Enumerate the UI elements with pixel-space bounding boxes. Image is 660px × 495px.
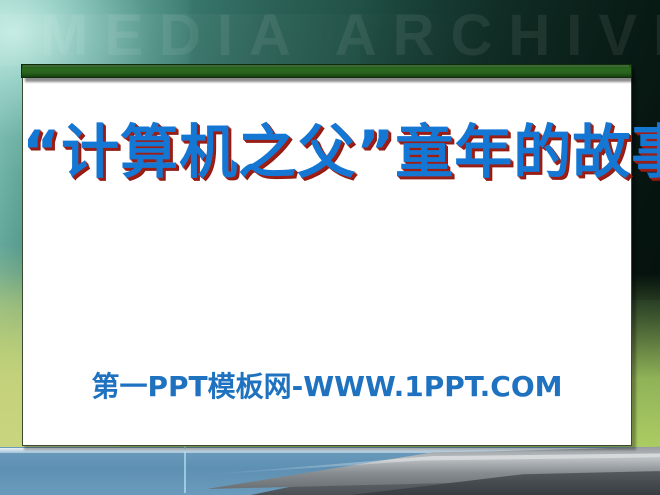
slide-title-quoted-segment: “计算机之父” [22, 118, 395, 186]
slide-title: “计算机之父”童年的故事 [22, 118, 632, 186]
slide-title-main-segment: 童年的故事 [395, 118, 660, 186]
background-ghost-text: MEDIA ARCHIVIST [40, 4, 660, 68]
presentation-slide: MEDIA ARCHIVIST “计算机之父”童年的故事 第一PPT模板网-WW… [0, 0, 660, 495]
panel-topbar-highlight [23, 65, 629, 67]
watermark-text: 第一PPT模板网-WWW.1PPT.COM [22, 365, 632, 405]
